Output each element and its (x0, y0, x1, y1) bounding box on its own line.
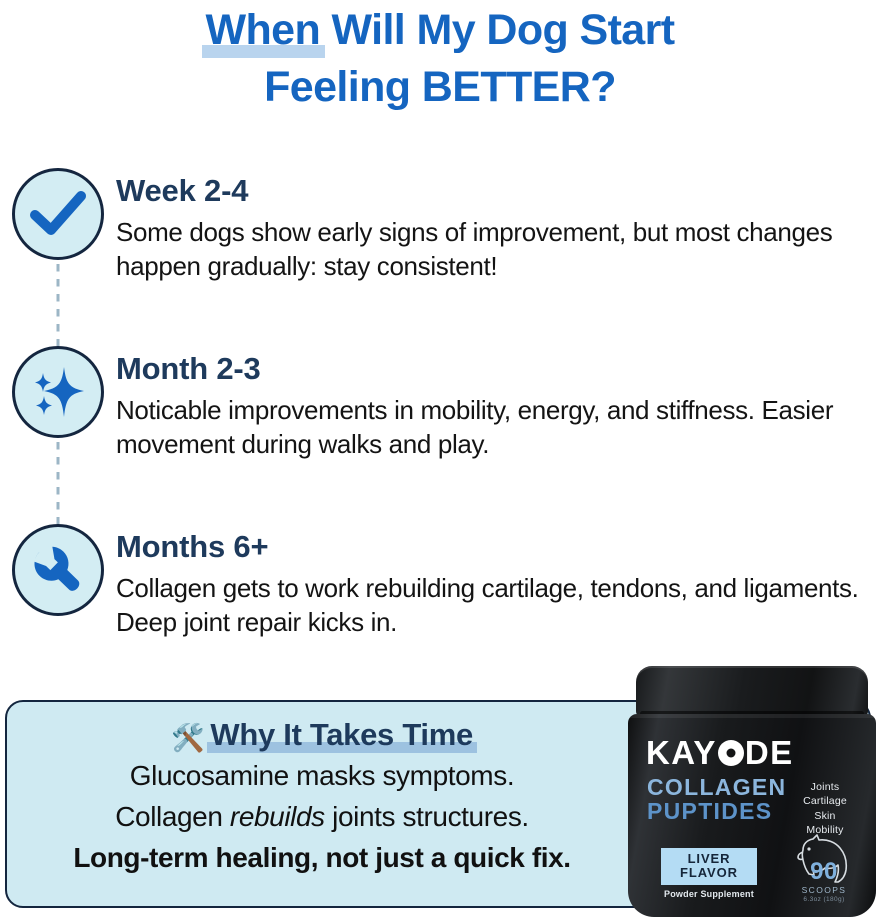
brand-logo: KAYDE (646, 736, 794, 769)
jar-lid (636, 666, 868, 718)
timeline-step-months-6-plus: Months 6+ Collagen gets to work rebuildi… (0, 524, 880, 684)
step-body: Some dogs show early signs of improvemen… (116, 215, 866, 284)
panel-line-2-pre: Collagen (115, 801, 230, 832)
timeline-step-month-2-3: Month 2-3 Noticable improvements in mobi… (0, 346, 880, 524)
net-weight: 6.3oz (180g) (788, 897, 860, 904)
page-title: When Will My Dog Start Feeling BETTER? (0, 2, 880, 116)
title-line-2: Feeling BETTER? (0, 59, 880, 116)
timeline-icon-column (0, 524, 116, 616)
timeline: Week 2-4 Some dogs show early signs of i… (0, 168, 880, 684)
wrench-icon-circle (12, 524, 104, 616)
step-body: Collagen gets to work rebuilding cartila… (116, 571, 866, 640)
brand-text-pre: KAY (646, 736, 717, 769)
timeline-step-week-2-4: Week 2-4 Some dogs show early signs of i… (0, 168, 880, 346)
product-benefits-list: Joints Cartilage Skin Mobility (788, 780, 862, 838)
step-title: Months 6+ (116, 530, 866, 565)
brand-ring-o-icon (718, 740, 744, 766)
flavor-line-2: FLAVOR (661, 866, 757, 880)
supplement-type-label: Powder Supplement (661, 889, 757, 899)
panel-line-2: Collagen rebuilds joints structures. (7, 799, 637, 836)
panel-content: 🛠️Why It Takes Time Glucosamine masks sy… (7, 702, 637, 876)
timeline-connector (57, 264, 60, 346)
timeline-icon-column (0, 168, 116, 260)
scoops-info: 90 SCOOPS 6.3oz (180g) (788, 860, 860, 903)
check-icon (30, 191, 86, 237)
hammer-and-wrench-icon: 🛠️ (171, 723, 204, 753)
check-icon-circle (12, 168, 104, 260)
flavor-badge: LIVER FLAVOR (661, 848, 757, 885)
title-line-1-rest: Will My Dog Start (320, 6, 674, 54)
panel-line-2-emphasis: rebuilds (230, 801, 325, 832)
step-body: Noticable improvements in mobility, ener… (116, 393, 866, 462)
step-title: Week 2-4 (116, 174, 866, 209)
product-subtitle: COLLAGEN PUPTIDES (647, 776, 786, 824)
wrench-icon (30, 542, 86, 598)
timeline-step-text: Week 2-4 Some dogs show early signs of i… (116, 168, 880, 284)
panel-heading: 🛠️Why It Takes Time (7, 716, 637, 754)
panel-line-1: Glucosamine masks symptoms. (7, 758, 637, 795)
product-subtitle-line-2: PUPTIDES (647, 800, 786, 824)
product-jar: KAYDE COLLAGEN PUPTIDES Joints Cartilage… (624, 666, 880, 917)
timeline-step-text: Months 6+ Collagen gets to work rebuildi… (116, 524, 880, 640)
jar-body: KAYDE COLLAGEN PUPTIDES Joints Cartilage… (628, 714, 876, 917)
panel-heading-text: Why It Takes Time (210, 716, 473, 753)
panel-line-2-post: joints structures. (325, 801, 529, 832)
panel-line-3: Long-term healing, not just a quick fix. (7, 840, 637, 877)
sparkle-icon (29, 363, 87, 421)
timeline-connector (57, 442, 60, 524)
timeline-icon-column (0, 346, 116, 438)
product-subtitle-line-1: COLLAGEN (647, 776, 786, 800)
timeline-step-text: Month 2-3 Noticable improvements in mobi… (116, 346, 880, 462)
sparkle-icon-circle (12, 346, 104, 438)
title-line-1: When Will My Dog Start (0, 2, 880, 59)
step-title: Month 2-3 (116, 352, 866, 387)
brand-text-post: DE (745, 736, 794, 769)
scoops-count: 90 (788, 860, 860, 884)
title-highlight-word: When (206, 2, 321, 59)
scoops-label: SCOOPS (788, 886, 860, 895)
flavor-line-1: LIVER (661, 852, 757, 866)
